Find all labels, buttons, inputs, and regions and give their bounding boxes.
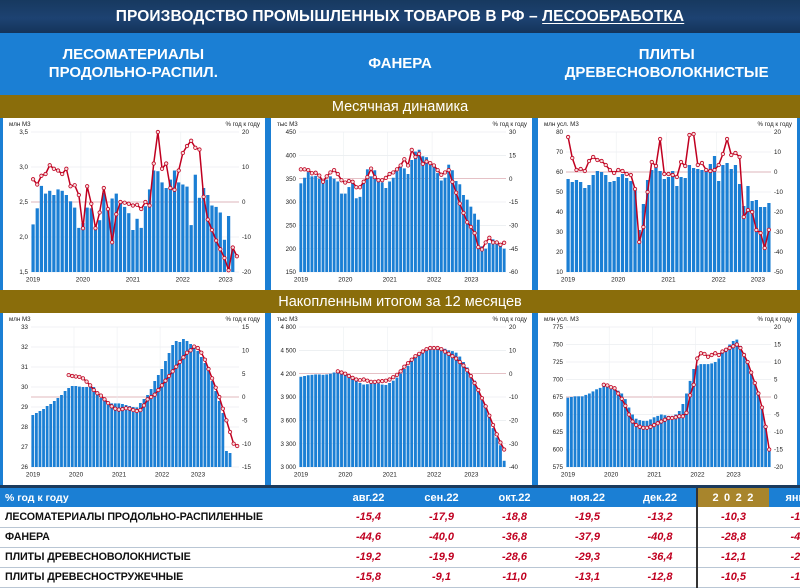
- section-band-cumulative: Накопленным итогом за 12 месяцев: [0, 290, 800, 313]
- svg-text:-30: -30: [774, 229, 784, 236]
- svg-text:2023: 2023: [218, 277, 233, 284]
- cell-value: -13,2: [624, 507, 697, 527]
- table-col-oct22: окт.22: [478, 488, 551, 507]
- category-line-1: ЛЕСОМАТЕРИАЛЫ: [63, 46, 204, 64]
- cell-value: -15,6: [769, 567, 800, 587]
- cell-value: -11,0: [478, 567, 551, 587]
- cell-value-year: -28,8: [697, 527, 769, 547]
- svg-text:2022: 2022: [176, 277, 191, 284]
- svg-text:20: 20: [556, 249, 563, 256]
- svg-text:2023: 2023: [726, 472, 741, 479]
- svg-text:-20: -20: [774, 209, 784, 216]
- cell-value: -18,8: [478, 507, 551, 527]
- category-header-fibreboard: ПЛИТЫ ДРЕВЕСНОВОЛОКНИСТЫЕ: [533, 33, 800, 95]
- svg-text:10: 10: [556, 269, 563, 276]
- category-line-1: ПЛИТЫ: [639, 46, 695, 64]
- category-header-row: ЛЕСОМАТЕРИАЛЫ ПРОДОЛЬНО-РАСПИЛ. ФАНЕРА П…: [0, 33, 800, 95]
- svg-text:2019: 2019: [561, 277, 576, 284]
- chart-panel-fibreboard-cumulative: млн усл. М3 % год к году 575600625650675…: [535, 313, 800, 485]
- svg-text:0: 0: [242, 394, 246, 401]
- svg-text:-15: -15: [242, 464, 252, 471]
- plot-area: 150200250300350400450-60-45-30-150153020…: [271, 118, 532, 290]
- chart-row-cumulative: млн М3 % год к году 2627282930313233-15-…: [0, 313, 800, 485]
- summary-table-head: % год к году авг.22 сен.22 окт.22 ноя.22…: [0, 488, 800, 507]
- category-line-1: ФАНЕРА: [368, 55, 432, 73]
- svg-text:725: 725: [553, 359, 564, 366]
- svg-text:2019: 2019: [26, 472, 41, 479]
- svg-text:29: 29: [21, 404, 28, 411]
- table-row: ПЛИТЫ ДРЕВЕСНОСТРУЖЕЧНЫЕ -15,8 -9,1 -11,…: [0, 567, 800, 587]
- svg-text:20: 20: [242, 129, 249, 136]
- table-row: ЛЕСОМАТЕРИАЛЫ ПРОДОЛЬНО-РАСПИЛЕННЫЕ -15,…: [0, 507, 800, 527]
- svg-text:200: 200: [286, 246, 297, 253]
- svg-text:4 800: 4 800: [281, 324, 297, 331]
- svg-text:0: 0: [509, 176, 513, 183]
- cell-value: -36,8: [478, 527, 551, 547]
- svg-text:20: 20: [774, 324, 781, 331]
- svg-text:-10: -10: [774, 189, 784, 196]
- table-col-sep22: сен.22: [405, 488, 478, 507]
- svg-text:-10: -10: [242, 234, 252, 241]
- svg-text:5: 5: [242, 371, 246, 378]
- svg-text:0: 0: [774, 394, 778, 401]
- plot-area: 2627282930313233-15-10-50510152019202020…: [3, 313, 265, 485]
- svg-text:2,0: 2,0: [19, 234, 28, 241]
- svg-text:2,5: 2,5: [19, 199, 28, 206]
- category-header-sawnwood: ЛЕСОМАТЕРИАЛЫ ПРОДОЛЬНО-РАСПИЛ.: [0, 33, 267, 95]
- svg-text:-10: -10: [509, 394, 519, 401]
- svg-text:-40: -40: [509, 464, 519, 471]
- plot-area: 3 0003 3003 6003 9004 2004 5004 800-40-3…: [271, 313, 532, 485]
- svg-text:2021: 2021: [126, 277, 141, 284]
- svg-text:-20: -20: [774, 464, 784, 471]
- svg-text:1,5: 1,5: [19, 269, 28, 276]
- svg-text:26: 26: [21, 464, 28, 471]
- svg-text:60: 60: [556, 169, 563, 176]
- svg-text:150: 150: [286, 269, 297, 276]
- svg-text:2019: 2019: [294, 277, 309, 284]
- svg-text:750: 750: [553, 342, 564, 349]
- svg-text:2023: 2023: [191, 472, 206, 479]
- svg-text:2019: 2019: [294, 472, 309, 479]
- svg-text:2021: 2021: [661, 277, 676, 284]
- table-col-year2022: 2 0 2 2: [697, 488, 769, 507]
- svg-text:600: 600: [553, 447, 564, 454]
- svg-text:10: 10: [774, 149, 781, 156]
- svg-text:650: 650: [553, 412, 564, 419]
- svg-text:27: 27: [21, 444, 28, 451]
- svg-text:400: 400: [286, 153, 297, 160]
- svg-text:28: 28: [21, 424, 28, 431]
- category-line-2: ПРОДОЛЬНО-РАСПИЛ.: [49, 64, 218, 82]
- svg-text:-60: -60: [509, 269, 519, 276]
- cell-value: -41,2: [769, 527, 800, 547]
- chart-row-monthly: млн М3 % год к году 1,52,02,53,03,5-20-1…: [0, 118, 800, 290]
- svg-text:70: 70: [556, 149, 563, 156]
- svg-text:30: 30: [509, 129, 516, 136]
- svg-text:625: 625: [553, 429, 564, 436]
- svg-text:2022: 2022: [690, 472, 705, 479]
- section-band-monthly: Месячная динамика: [0, 95, 800, 118]
- plot-area: 575600625650675700725750775-20-15-10-505…: [538, 313, 797, 485]
- svg-text:3 900: 3 900: [281, 394, 297, 401]
- svg-text:0: 0: [774, 169, 778, 176]
- cell-value: -40,0: [405, 527, 478, 547]
- cell-value: -29,3: [551, 547, 624, 567]
- svg-text:3 000: 3 000: [281, 464, 297, 471]
- svg-text:2020: 2020: [76, 277, 91, 284]
- summary-table-body: ЛЕСОМАТЕРИАЛЫ ПРОДОЛЬНО-РАСПИЛЕННЫЕ -15,…: [0, 507, 800, 587]
- svg-text:675: 675: [553, 394, 564, 401]
- svg-text:3 300: 3 300: [281, 441, 297, 448]
- table-row: ФАНЕРА -44,6 -40,0 -36,8 -37,9 -40,8 -28…: [0, 527, 800, 547]
- cell-value: -15,8: [332, 567, 405, 587]
- row-label: ФАНЕРА: [0, 527, 332, 547]
- svg-text:-5: -5: [242, 418, 248, 425]
- svg-text:2022: 2022: [427, 277, 442, 284]
- cell-value: -40,8: [624, 527, 697, 547]
- svg-text:-15: -15: [774, 447, 784, 454]
- svg-text:15: 15: [242, 324, 249, 331]
- chart-panel-fibreboard-monthly: млн усл. М3 % год к году 102030405060708…: [535, 118, 800, 290]
- svg-text:-10: -10: [774, 429, 784, 436]
- svg-text:20: 20: [509, 324, 516, 331]
- svg-text:700: 700: [553, 377, 564, 384]
- table-corner-label: % год к году: [0, 488, 332, 507]
- cell-value: -15,3: [769, 507, 800, 527]
- table-col-jan23: янв.23: [769, 488, 800, 507]
- cell-value: -28,9: [769, 547, 800, 567]
- cell-value: -36,4: [624, 547, 697, 567]
- category-header-plywood: ФАНЕРА: [267, 33, 534, 95]
- svg-text:-5: -5: [774, 412, 780, 419]
- svg-text:32: 32: [21, 344, 28, 351]
- svg-text:2019: 2019: [26, 277, 41, 284]
- svg-text:30: 30: [21, 384, 28, 391]
- summary-table: % год к году авг.22 сен.22 окт.22 ноя.22…: [0, 488, 800, 588]
- page-title-main: ПРОИЗВОДСТВО ПРОМЫШЛЕННЫХ ТОВАРОВ В РФ –: [116, 8, 542, 25]
- svg-text:10: 10: [774, 359, 781, 366]
- page-title-highlight: ЛЕСООБРАБОТКА: [542, 8, 684, 25]
- svg-text:50: 50: [556, 189, 563, 196]
- row-label: ПЛИТЫ ДРЕВЕСНОСТРУЖЕЧНЫЕ: [0, 567, 332, 587]
- svg-text:2020: 2020: [69, 472, 84, 479]
- svg-text:15: 15: [509, 153, 516, 160]
- svg-text:-10: -10: [242, 441, 252, 448]
- svg-text:-45: -45: [509, 246, 519, 253]
- svg-text:3 600: 3 600: [281, 418, 297, 425]
- svg-text:2020: 2020: [604, 472, 619, 479]
- chart-panel-plywood-monthly: тыс М3 % год к году 15020025030035040045…: [268, 118, 535, 290]
- cell-value: -15,4: [332, 507, 405, 527]
- cell-value-year: -10,5: [697, 567, 769, 587]
- svg-text:-20: -20: [509, 418, 519, 425]
- svg-text:-50: -50: [774, 269, 784, 276]
- chart-panel-sawnwood-monthly: млн М3 % год к году 1,52,02,53,03,5-20-1…: [0, 118, 268, 290]
- svg-text:775: 775: [553, 324, 564, 331]
- svg-text:575: 575: [553, 464, 564, 471]
- svg-text:33: 33: [21, 324, 28, 331]
- svg-text:2022: 2022: [155, 472, 170, 479]
- cell-value: -28,6: [478, 547, 551, 567]
- cell-value: -19,2: [332, 547, 405, 567]
- row-label: ЛЕСОМАТЕРИАЛЫ ПРОДОЛЬНО-РАСПИЛЕННЫЕ: [0, 507, 332, 527]
- svg-text:2021: 2021: [383, 277, 398, 284]
- svg-text:-30: -30: [509, 223, 519, 230]
- dashboard-root: ПРОИЗВОДСТВО ПРОМЫШЛЕННЫХ ТОВАРОВ В РФ –…: [0, 0, 800, 588]
- svg-text:4 500: 4 500: [281, 348, 297, 355]
- svg-text:20: 20: [774, 129, 781, 136]
- page-title: ПРОИЗВОДСТВО ПРОМЫШЛЕННЫХ ТОВАРОВ В РФ –…: [116, 8, 684, 26]
- cell-value: -17,9: [405, 507, 478, 527]
- svg-text:80: 80: [556, 129, 563, 136]
- svg-text:-20: -20: [242, 269, 252, 276]
- svg-text:450: 450: [286, 129, 297, 136]
- table-col-aug22: авг.22: [332, 488, 405, 507]
- section-band-cumulative-label: Накопленным итогом за 12 месяцев: [278, 294, 522, 310]
- plot-area: 1,52,02,53,03,5-20-100102020192020202120…: [3, 118, 265, 290]
- svg-text:2023: 2023: [464, 472, 479, 479]
- summary-table-header-row: % год к году авг.22 сен.22 окт.22 ноя.22…: [0, 488, 800, 507]
- svg-text:2021: 2021: [647, 472, 662, 479]
- svg-text:10: 10: [242, 348, 249, 355]
- cell-value: -44,6: [332, 527, 405, 547]
- svg-text:-40: -40: [774, 249, 784, 256]
- svg-text:300: 300: [286, 199, 297, 206]
- summary-table-container: % год к году авг.22 сен.22 окт.22 ноя.22…: [0, 488, 800, 588]
- svg-text:0: 0: [509, 371, 513, 378]
- svg-text:10: 10: [509, 348, 516, 355]
- svg-text:2021: 2021: [112, 472, 127, 479]
- svg-text:2020: 2020: [338, 472, 353, 479]
- svg-text:15: 15: [774, 342, 781, 349]
- table-row: ПЛИТЫ ДРЕВЕСНОВОЛОКНИСТЫЕ -19,2 -19,9 -2…: [0, 547, 800, 567]
- cell-value: -19,9: [405, 547, 478, 567]
- svg-text:10: 10: [242, 164, 249, 171]
- svg-text:-15: -15: [509, 199, 519, 206]
- svg-text:5: 5: [774, 377, 778, 384]
- svg-text:4 200: 4 200: [281, 371, 297, 378]
- cell-value: -13,1: [551, 567, 624, 587]
- table-col-dec22: дек.22: [624, 488, 697, 507]
- svg-text:2020: 2020: [338, 277, 353, 284]
- chart-panel-plywood-cumulative: тыс М3 % год к году 3 0003 3003 6003 900…: [268, 313, 535, 485]
- cell-value: -12,8: [624, 567, 697, 587]
- svg-text:250: 250: [286, 223, 297, 230]
- svg-text:350: 350: [286, 176, 297, 183]
- cell-value-year: -10,3: [697, 507, 769, 527]
- svg-text:3,0: 3,0: [19, 164, 28, 171]
- svg-text:2023: 2023: [751, 277, 766, 284]
- svg-text:-30: -30: [509, 441, 519, 448]
- svg-text:0: 0: [242, 199, 246, 206]
- cell-value-year: -12,1: [697, 547, 769, 567]
- svg-text:2022: 2022: [427, 472, 442, 479]
- svg-text:2021: 2021: [383, 472, 398, 479]
- category-line-2: ДРЕВЕСНОВОЛОКНИСТЫЕ: [565, 64, 769, 82]
- cell-value: -9,1: [405, 567, 478, 587]
- cell-value: -19,5: [551, 507, 624, 527]
- svg-text:2020: 2020: [611, 277, 626, 284]
- page-title-bar: ПРОИЗВОДСТВО ПРОМЫШЛЕННЫХ ТОВАРОВ В РФ –…: [0, 0, 800, 33]
- chart-panel-sawnwood-cumulative: млн М3 % год к году 2627282930313233-15-…: [0, 313, 268, 485]
- cell-value: -37,9: [551, 527, 624, 547]
- svg-text:2023: 2023: [464, 277, 479, 284]
- svg-text:40: 40: [556, 209, 563, 216]
- table-col-nov22: ноя.22: [551, 488, 624, 507]
- row-label: ПЛИТЫ ДРЕВЕСНОВОЛОКНИСТЫЕ: [0, 547, 332, 567]
- svg-text:3,5: 3,5: [19, 129, 28, 136]
- svg-text:2022: 2022: [712, 277, 727, 284]
- plot-area: 1020304050607080-50-40-30-20-10010202019…: [538, 118, 797, 290]
- svg-text:31: 31: [21, 364, 28, 371]
- svg-text:2019: 2019: [561, 472, 576, 479]
- section-band-monthly-label: Месячная динамика: [332, 99, 468, 115]
- svg-text:30: 30: [556, 229, 563, 236]
